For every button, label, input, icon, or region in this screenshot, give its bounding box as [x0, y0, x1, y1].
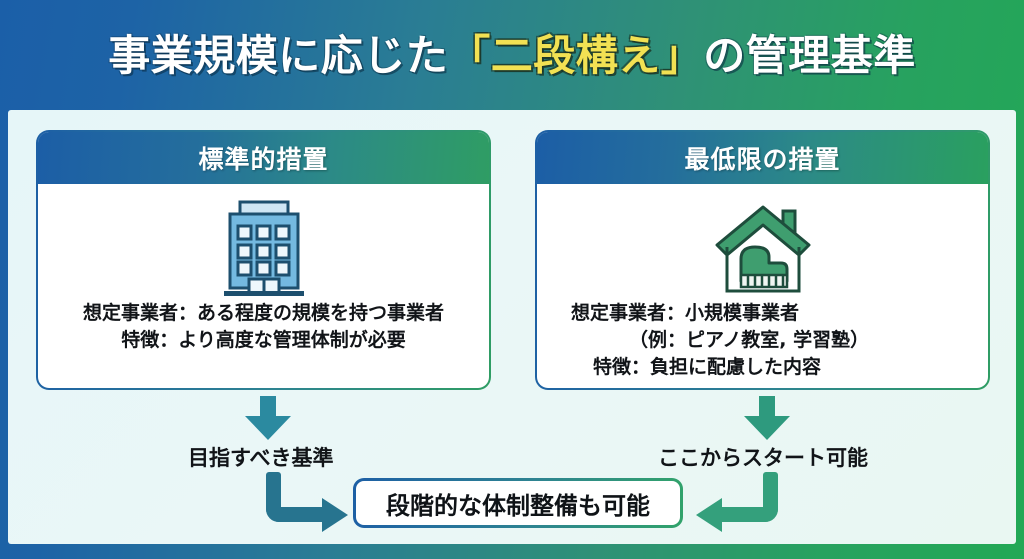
down-arrow-left-icon — [245, 396, 291, 440]
down-arrow-right-icon — [744, 396, 790, 440]
arrow-head — [744, 416, 790, 440]
card-right-lines: 想定事業者：小規模事業者 （例：ピアノ教室, 学習塾） 特徴：負担に配慮した内容 — [537, 300, 988, 381]
slide-canvas: 事業規模に応じた「二段構え」の管理基準 標準的措置 — [0, 0, 1024, 559]
bottom-conclusion-label: 段階的な体制整備も可能 — [386, 486, 650, 521]
card-left-line-1: 想定事業者：ある程度の規模を持つ事業者 — [38, 300, 489, 327]
card-right-line-1: 想定事業者：小規模事業者 — [571, 300, 988, 327]
card-right-body: 想定事業者：小規模事業者 （例：ピアノ教室, 学習塾） 特徴：負担に配慮した内容 — [537, 184, 988, 388]
arrow-head — [245, 416, 291, 440]
card-minimum-measures[interactable]: 最低限の措置 — [535, 130, 990, 390]
elbow-arrowhead — [696, 498, 722, 532]
arrow-stem — [260, 396, 276, 418]
house-piano-icon — [711, 192, 815, 300]
card-standard-measures[interactable]: 標準的措置 — [36, 130, 491, 390]
bottom-conclusion-box[interactable]: 段階的な体制整備も可能 — [353, 478, 683, 528]
elbow-arrow-left-icon — [266, 472, 358, 534]
label-target-standard: 目指すべき基準 — [188, 442, 334, 472]
label-start-here: ここからスタート可能 — [658, 442, 868, 472]
arrow-stem — [759, 396, 775, 418]
card-right-line-3: 特徴：負担に配慮した内容 — [571, 354, 988, 381]
card-left-header: 標準的措置 — [38, 132, 489, 184]
elbow-horizontal — [280, 507, 326, 522]
card-left-lines: 想定事業者：ある程度の規模を持つ事業者 特徴：より高度な管理体制が必要 — [38, 300, 489, 354]
elbow-arrowhead — [322, 498, 348, 532]
page-title-text: 事業規模に応じた「二段構え」の管理基準 — [108, 22, 916, 83]
elbow-arrow-right-icon — [686, 472, 778, 534]
page-title: 事業規模に応じた「二段構え」の管理基準 — [0, 0, 1024, 104]
title-prefix: 事業規模に応じた — [108, 31, 448, 80]
card-right-header: 最低限の措置 — [537, 132, 988, 184]
card-left-line-2: 特徴：より高度な管理体制が必要 — [38, 327, 489, 354]
card-right-line-2: （例：ピアノ教室, 学習塾） — [571, 327, 988, 354]
title-suffix: の管理基準 — [703, 31, 916, 80]
card-left-body: 想定事業者：ある程度の規模を持つ事業者 特徴：より高度な管理体制が必要 — [38, 184, 489, 388]
content-panel: 標準的措置 — [8, 110, 1016, 544]
office-building-icon — [216, 192, 312, 300]
elbow-horizontal — [718, 507, 764, 522]
title-highlight: 「二段構え」 — [448, 31, 703, 80]
